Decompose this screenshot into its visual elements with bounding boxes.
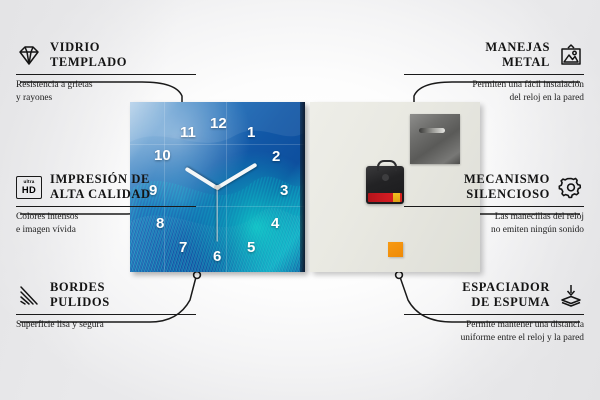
feature-title-line2: METAL (502, 55, 550, 69)
quartz-movement (366, 166, 404, 204)
second-hand (216, 188, 217, 242)
anchor-dot-edges (194, 272, 201, 279)
clock-numeral: 6 (213, 249, 221, 264)
clock-numeral: 7 (179, 240, 187, 255)
clock-numeral: 10 (154, 148, 171, 163)
clock-numeral: 12 (210, 116, 227, 131)
feature-desc-line2: y rayones (16, 93, 52, 103)
infographic-canvas: 12 1 2 3 4 5 6 7 8 9 10 11 (0, 0, 600, 400)
feature-desc-line1: Las manecillas del reloj (495, 212, 584, 222)
feature-title-line1: ESPACIADOR (462, 280, 550, 294)
feature-espaciador-espuma: ESPACIADORDE ESPUMA Permite mantener una… (404, 280, 584, 344)
clock-numeral: 3 (280, 183, 288, 198)
feature-desc-line2: del reloj en la pared (510, 93, 584, 103)
divider (16, 74, 196, 76)
feature-bordes-pulidos: BORDESPULIDOS Superficie lisa y segura (16, 280, 196, 332)
metal-hanger (410, 114, 460, 164)
feature-desc-line2: uniforme entre el reloj y la pared (461, 333, 584, 343)
feature-title-line2: ALTA CALIDAD (50, 187, 151, 201)
feature-desc-line1: Resistencia a grietas (16, 80, 93, 90)
ultra-hd-icon: ultra HD (16, 174, 42, 200)
feature-title-line1: VIDRIO (50, 40, 100, 54)
clock-numeral: 2 (272, 149, 280, 164)
diamond-icon (16, 42, 42, 68)
clock-center-pin (215, 185, 220, 190)
divider (404, 206, 584, 208)
ultra-hd-main-text: HD (22, 185, 36, 194)
feature-title-line2: TEMPLADO (50, 55, 127, 69)
feature-mecanismo-silencioso: MECANISMOSILENCIOSO Las manecillas del r… (404, 172, 584, 236)
clock-numeral: 11 (180, 125, 196, 140)
feature-desc-line1: Superficie lisa y segura (16, 320, 104, 330)
anchor-dot-foam (396, 272, 403, 279)
feature-desc-line1: Colores intensos (16, 212, 78, 222)
feature-title-line2: SILENCIOSO (466, 187, 550, 201)
clock-numeral: 1 (247, 125, 255, 140)
foam-spacer (388, 242, 403, 257)
feature-title-line1: IMPRESIÓN DE (50, 172, 150, 186)
feature-impresion-alta-calidad: ultra HD IMPRESIÓN DEALTA CALIDAD Colore… (16, 172, 196, 236)
feature-desc-line1: Permite mantener una distancia (466, 320, 584, 330)
divider (404, 74, 584, 76)
clock-numeral: 5 (247, 240, 255, 255)
feature-vidrio-templado: VIDRIOTEMPLADO Resistencia a grietasy ra… (16, 40, 196, 104)
feature-title-line1: BORDES (50, 280, 105, 294)
feature-desc-line2: e imagen vívida (16, 225, 76, 235)
divider (16, 314, 196, 316)
feature-title-line2: PULIDOS (50, 295, 110, 309)
divider (404, 314, 584, 316)
picture-frame-icon (558, 42, 584, 68)
divider (16, 206, 196, 208)
arrow-down-layer-icon (558, 282, 584, 308)
feature-desc-line2: no emiten ningún sonido (491, 225, 584, 235)
feature-manejas-metal: MANEJASMETAL Permiten una fácil instalac… (404, 40, 584, 104)
clock-numeral: 4 (271, 216, 279, 231)
feature-title-line1: MECANISMO (464, 172, 550, 186)
feature-title-line2: DE ESPUMA (471, 295, 550, 309)
diagonal-lines-icon (16, 282, 42, 308)
feature-desc-line1: Permiten una fácil instalación (472, 80, 584, 90)
gear-icon (558, 174, 584, 200)
feature-title-line1: MANEJAS (485, 40, 550, 54)
